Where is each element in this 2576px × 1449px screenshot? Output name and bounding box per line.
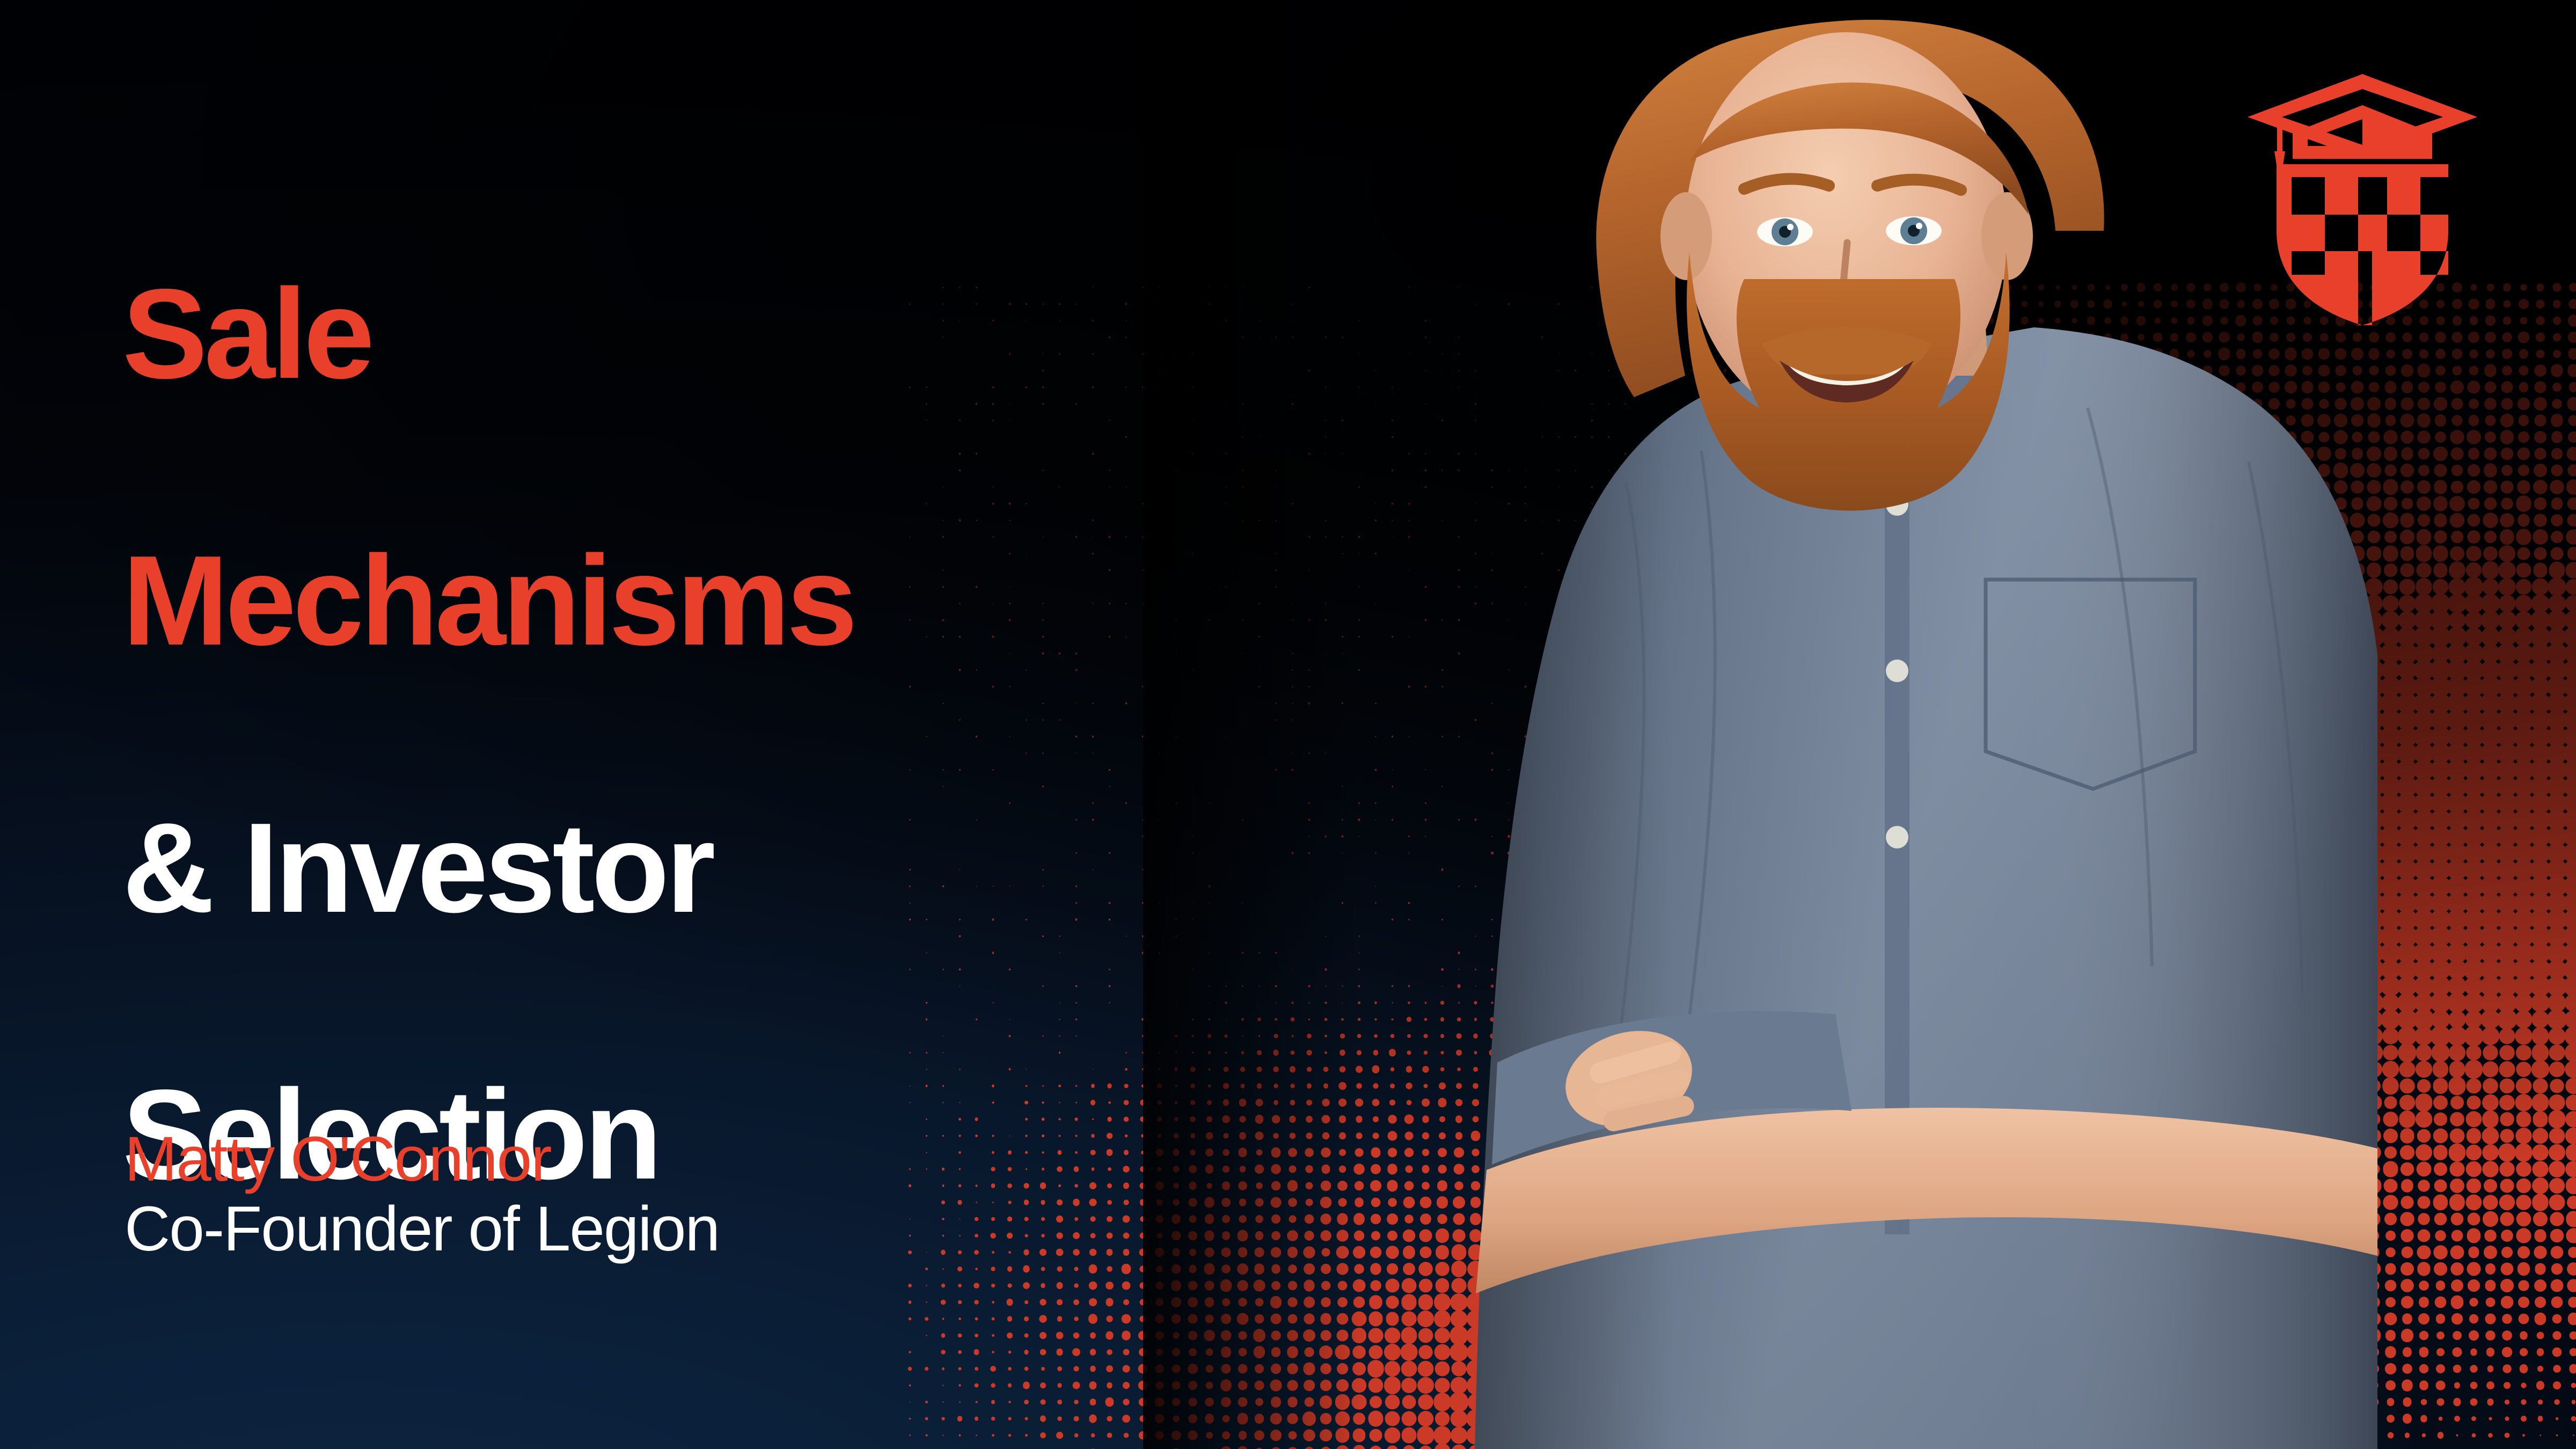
speaker-name: Matty O'Connor — [125, 1125, 1305, 1195]
graduation-cap-shield-logo — [2243, 54, 2479, 327]
speaker-block: Matty O'Connor Co-Founder of Legion — [125, 1125, 1305, 1264]
speaker-role: Co-Founder of Legion — [125, 1195, 1305, 1264]
speaker-portrait — [1143, 0, 2377, 1449]
headline-line-3: & Investor — [122, 802, 1303, 935]
slide-canvas: Sale Mechanisms & Investor Selection Mat… — [0, 0, 2576, 1449]
headline-line-1: Sale — [122, 268, 1303, 401]
headline-line-2: Mechanisms — [122, 535, 1303, 668]
